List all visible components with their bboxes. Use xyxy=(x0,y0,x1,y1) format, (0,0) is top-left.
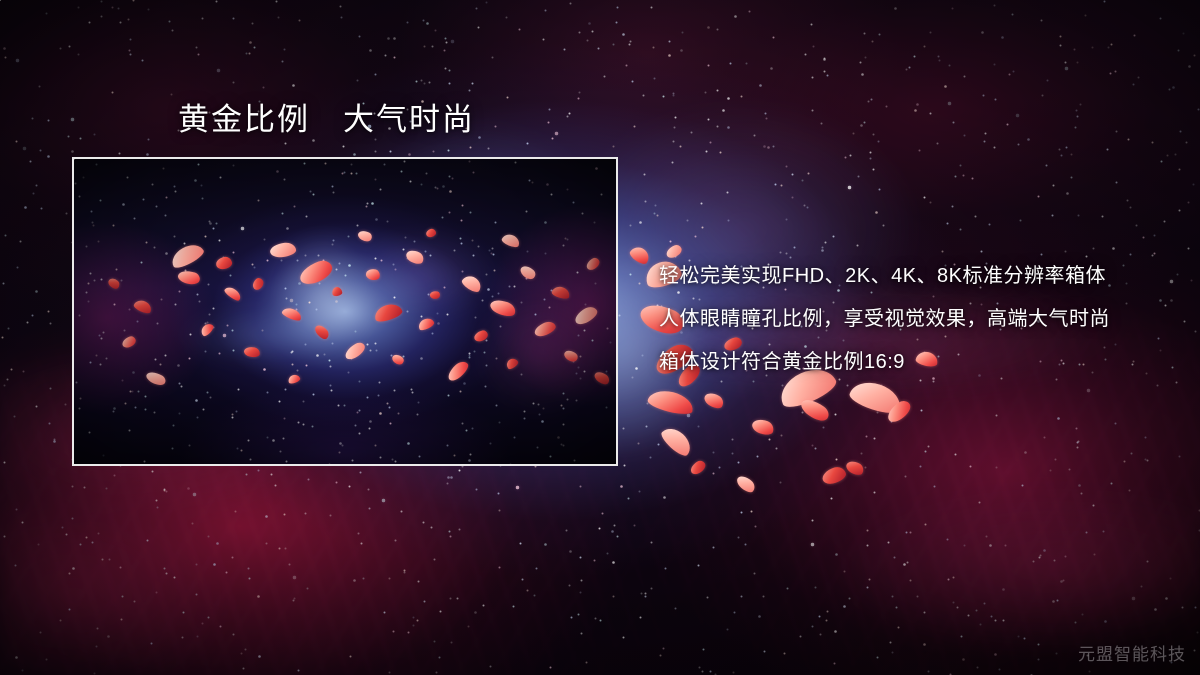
framed-photo xyxy=(72,157,618,466)
body-line-1: 轻松完美实现FHD、2K、4K、8K标准分辨率箱体 xyxy=(659,255,1179,298)
body-text-block: 轻松完美实现FHD、2K、4K、8K标准分辨率箱体 人体眼睛瞳孔比例，享受视觉效… xyxy=(659,255,1179,384)
photo-vignette xyxy=(74,159,616,464)
body-line-2: 人体眼睛瞳孔比例，享受视觉效果，高端大气时尚 xyxy=(659,298,1179,341)
body-line-3: 箱体设计符合黄金比例16:9 xyxy=(659,341,1179,384)
page-title: 黄金比例 大气时尚 xyxy=(178,101,475,140)
slide-canvas: 黄金比例 大气时尚 轻松完美实现FHD、2K、4K、8K标准分辨率箱体 人体眼睛… xyxy=(0,0,1200,675)
watermark: 元盟智能科技 xyxy=(1078,640,1186,665)
